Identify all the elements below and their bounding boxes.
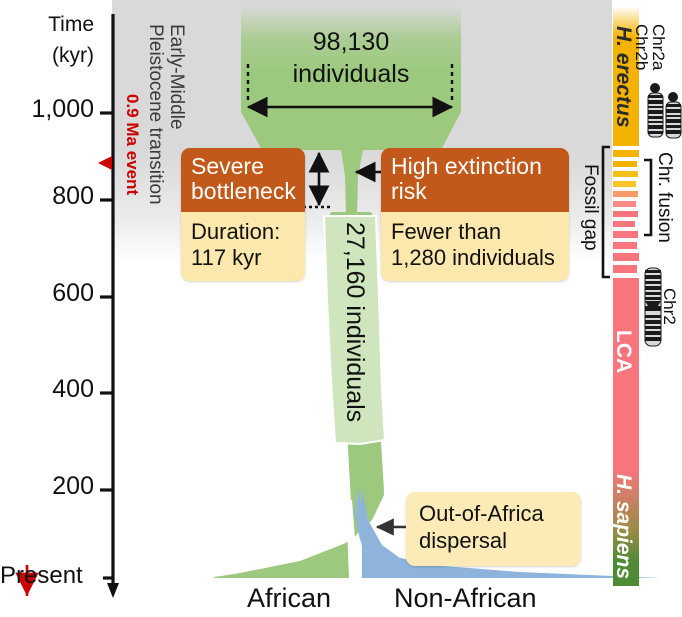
event-marker-label: 0.9 Ma event: [123, 94, 141, 195]
chromosome-label-chr2a: Chr2a: [649, 24, 667, 70]
ancestral-size-label-line1: 98,130: [241, 28, 461, 58]
callout-high-extinction-risk-body-line2: 1,280 individuals: [391, 245, 559, 272]
present-label: Present: [0, 563, 83, 589]
chromosome-ideogram-chr2b: [666, 92, 681, 138]
axis-title-line1: Time: [18, 14, 94, 37]
epoch-band-label-line2: Pleistocene transition: [144, 24, 165, 205]
lineage-label-non-african: Non-African: [394, 583, 537, 614]
post-bottleneck-size-label: 27,160 individuals: [341, 222, 368, 422]
chromosome-label-chr2: Chr2: [660, 288, 678, 325]
callout-out-of-africa-line2: dispersal: [419, 528, 569, 555]
chromosome-ideogram-chr2a: [648, 83, 663, 137]
callout-high-extinction-risk-body: Fewer than 1,280 individuals: [381, 212, 569, 282]
callout-high-extinction-risk-body-line1: Fewer than: [391, 219, 559, 246]
callout-high-extinction-risk-header: High extinction risk: [381, 148, 569, 212]
callout-severe-bottleneck-body: Duration: 117 kyr: [181, 212, 305, 282]
callout-severe-bottleneck-header: Severe bottleneck: [181, 148, 305, 212]
lineage-label-african: African: [247, 583, 331, 614]
figure-canvas: Time (kyr) 1,000 800 600 400 200 Present…: [0, 0, 682, 617]
callout-out-of-africa-line1: Out-of-Africa: [419, 501, 569, 528]
event-marker-arrow: [98, 156, 112, 170]
chromosome-label-chr2b: Chr2b: [632, 24, 650, 70]
time-axis: [100, 14, 113, 584]
axis-arrow: [107, 583, 119, 598]
ancestral-size-label-line2: individuals: [241, 60, 461, 90]
callout-severe-bottleneck-body-line2: 117 kyr: [191, 245, 295, 272]
species-label-h-erectus: H. erectus: [611, 26, 634, 128]
chromosome-ideogram-chr2: [645, 268, 661, 346]
tick-label-600: 600: [8, 280, 94, 307]
callout-severe-bottleneck-body-line1: Duration:: [191, 219, 295, 246]
tick-label-200: 200: [8, 473, 94, 500]
tick-label-400: 400: [8, 376, 94, 403]
callout-high-extinction-risk[interactable]: High extinction risk Fewer than 1,280 in…: [381, 148, 569, 281]
callout-severe-bottleneck[interactable]: Severe bottleneck Duration: 117 kyr: [181, 148, 305, 281]
chr-fusion-label: Chr. fusion: [653, 152, 674, 243]
species-label-lca: LCA: [611, 330, 634, 373]
callout-out-of-africa[interactable]: Out-of-Africa dispersal: [406, 492, 581, 566]
tick-label-800: 800: [8, 183, 94, 210]
chr-fusion-bracket: [644, 160, 651, 235]
fossil-gap-dashes: [613, 150, 639, 273]
epoch-band-label-line1: Early-Middle: [165, 24, 186, 130]
fossil-gap-label: Fossil gap: [579, 164, 600, 251]
species-label-h-sapiens: H. sapiens: [611, 474, 634, 579]
axis-title-line2: (kyr): [18, 45, 94, 68]
tick-label-1000: 1,000: [8, 96, 94, 123]
